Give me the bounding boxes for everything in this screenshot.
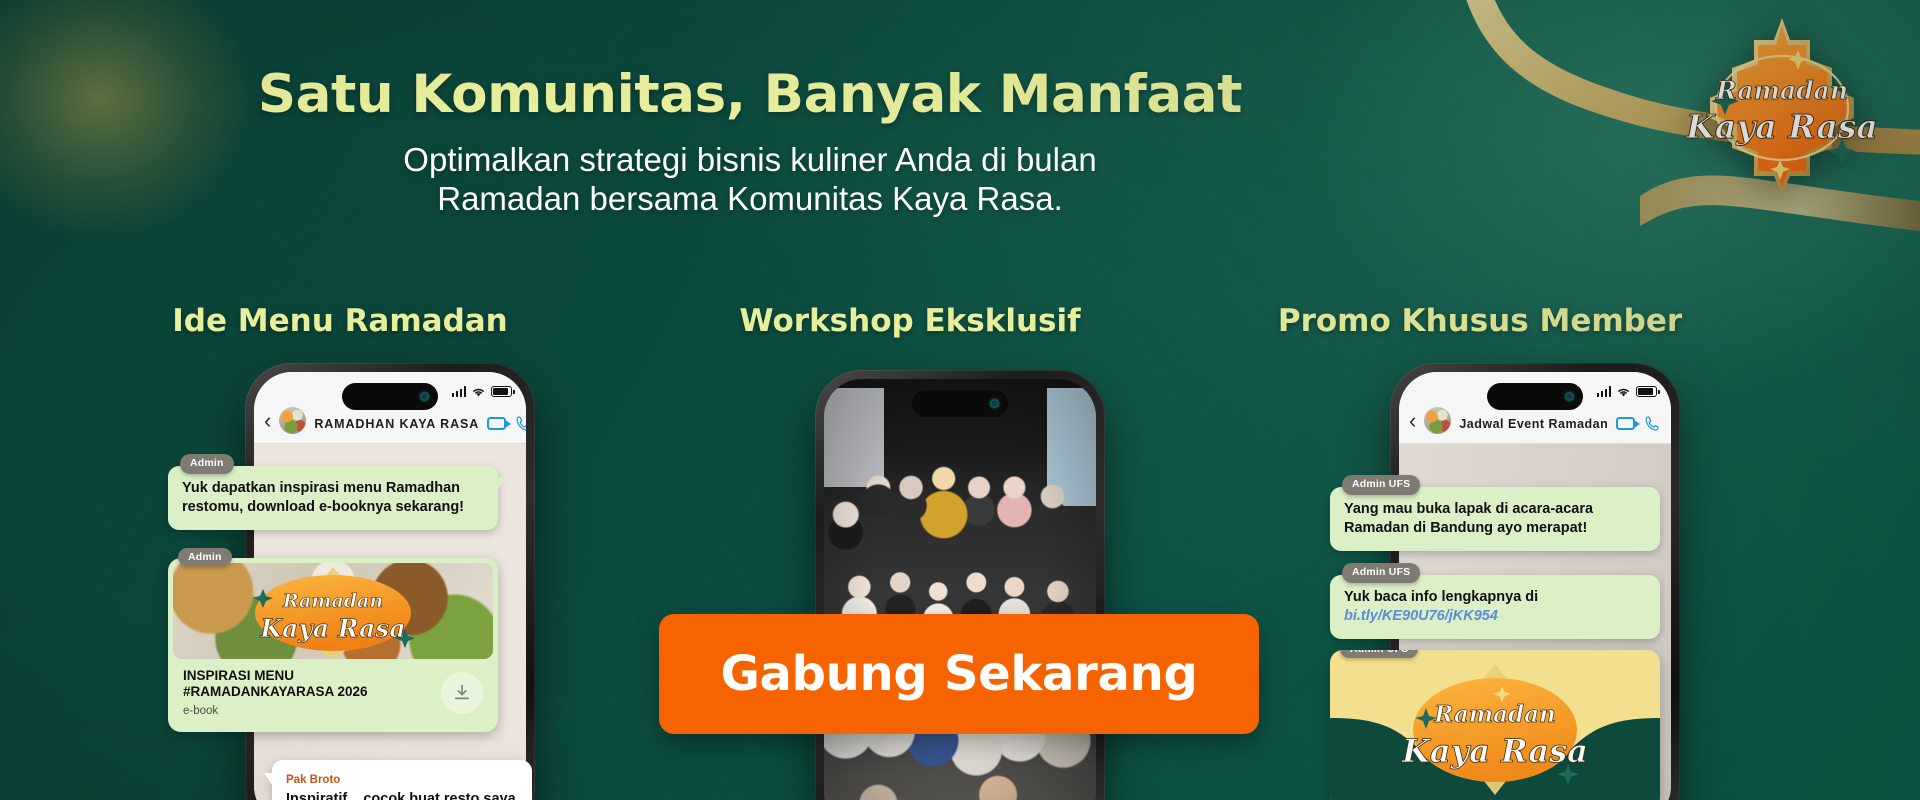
phone-mockup-center	[815, 370, 1105, 800]
chat-bubble-reply: Pak Broto Inspiratif... cocok buat resto…	[272, 760, 532, 800]
ebook-title-line1: INSPIRASI MENU	[183, 668, 294, 683]
page-subtitle: Optimalkan strategi bisnis kuliner Anda …	[0, 140, 1500, 219]
reply-text: Inspiratif... cocok buat resto saya nih …	[286, 790, 518, 800]
dynamic-island	[342, 383, 438, 410]
chat-bubble-admin-ebook: Admin Yuk dapatkan inspirasi menu Ramadh…	[168, 466, 498, 530]
chat-header-actions	[1616, 415, 1661, 432]
ebook-kind: e-book	[183, 705, 483, 717]
promo-badge-line1: Ramadan	[1433, 701, 1556, 728]
wifi-icon	[1616, 386, 1631, 397]
sender-chip-admin-ufs-2: Admin UFS	[1342, 563, 1420, 583]
column-title-workshop: Workshop Eksklusif	[700, 303, 1120, 339]
chat-title-left: RAMADHAN KAYA RASA	[314, 417, 479, 431]
logo-text-line2: Kaya Rasa	[1685, 107, 1878, 146]
chat-bubble-text: Yang mau buka lapak di acara-acara Ramad…	[1344, 501, 1593, 536]
ebook-meta: INSPIRASI MENU #RAMADANKAYARASA 2026 e-b…	[173, 659, 493, 727]
chat-bubble-text: Yuk dapatkan inspirasi menu Ramadhan res…	[182, 480, 464, 515]
chat-title-right: Jadwal Event Ramadan	[1459, 417, 1608, 431]
video-call-icon[interactable]	[1616, 417, 1635, 430]
banner-stage: Ramadan Kaya Rasa Satu Komunitas, Banyak…	[0, 0, 1920, 800]
sender-chip-admin: Admin	[180, 454, 234, 474]
ebook-title: INSPIRASI MENU #RAMADANKAYARASA 2026	[183, 668, 483, 700]
logo-text-line1: Ramadan	[1715, 76, 1848, 105]
back-chevron-icon[interactable]: ‹	[264, 410, 271, 432]
wifi-icon	[471, 386, 486, 397]
chat-bubble-event-info: Admin UFS Yang mau buka lapak di acara-a…	[1330, 487, 1660, 551]
chat-header-actions	[487, 415, 526, 432]
promo-card-artwork: Ramadan Kaya Rasa	[1330, 650, 1660, 800]
sender-chip-admin-card: Admin	[178, 548, 232, 566]
camera-dot-icon	[420, 392, 429, 401]
subtitle-line-1: Optimalkan strategi bisnis kuliner Anda …	[0, 140, 1500, 179]
voice-call-icon[interactable]	[1644, 415, 1661, 432]
chat-bubble-link[interactable]: bi.tly/KE90U76/jKK954	[1344, 607, 1646, 626]
battery-icon	[491, 386, 512, 397]
ebook-title-line2: #RAMADANKAYARASA 2026	[183, 684, 368, 699]
column-title-promo: Promo Khusus Member	[1220, 303, 1740, 339]
subtitle-line-2: Ramadan bersama Komunitas Kaya Rasa.	[0, 179, 1500, 218]
workshop-group-photo	[824, 379, 1096, 800]
join-now-button[interactable]: Gabung Sekarang	[659, 614, 1259, 734]
promo-card-right[interactable]: Admin UFS Ramadan Kaya Rasa	[1330, 650, 1660, 800]
battery-icon	[1636, 386, 1657, 397]
ebook-badge-line2: Kaya Rasa	[259, 614, 405, 643]
sender-chip-admin-ufs-1: Admin UFS	[1342, 475, 1420, 495]
back-chevron-icon[interactable]: ‹	[1409, 410, 1416, 432]
signal-bars-icon	[452, 386, 467, 397]
dynamic-island-center	[912, 390, 1008, 417]
reply-text-content: Inspiratif... cocok buat resto saya nih	[286, 791, 516, 800]
phone-screen-center	[824, 379, 1096, 800]
promo-badge-line2: Kaya Rasa	[1401, 732, 1588, 770]
video-call-icon[interactable]	[487, 417, 506, 430]
download-button[interactable]	[441, 672, 483, 714]
chat-bubble-text: Yuk baca info lengkapnya di	[1344, 588, 1646, 607]
page-title: Satu Komunitas, Banyak Manfaat	[0, 64, 1500, 125]
avatar	[279, 407, 306, 434]
camera-dot-icon	[990, 399, 999, 408]
column-title-ide-menu: Ide Menu Ramadan	[80, 303, 600, 339]
chat-bubble-event-link: Admin UFS Yuk baca info lengkapnya di bi…	[1330, 575, 1660, 639]
camera-dot-icon	[1565, 392, 1574, 401]
signal-bars-icon	[1597, 386, 1612, 397]
status-bar-right	[1597, 386, 1658, 397]
ramadan-kaya-rasa-logo: Ramadan Kaya Rasa	[1682, 14, 1882, 199]
ebook-badge-line1: Ramadan	[282, 590, 383, 612]
avatar	[1424, 407, 1451, 434]
status-bar	[452, 386, 513, 397]
voice-call-icon[interactable]	[515, 415, 526, 432]
dynamic-island-right	[1487, 383, 1583, 410]
download-icon	[452, 683, 472, 703]
sender-chip-admin-ufs-3: Admin UFS	[1340, 650, 1418, 658]
ebook-card[interactable]: Admin Ramadan Kaya Rasa INSPIRASI MENU #…	[168, 558, 498, 732]
ebook-thumbnail: Ramadan Kaya Rasa	[173, 563, 493, 659]
ebook-badge-overlay: Ramadan Kaya Rasa	[173, 563, 493, 659]
reply-sender: Pak Broto	[286, 773, 518, 788]
